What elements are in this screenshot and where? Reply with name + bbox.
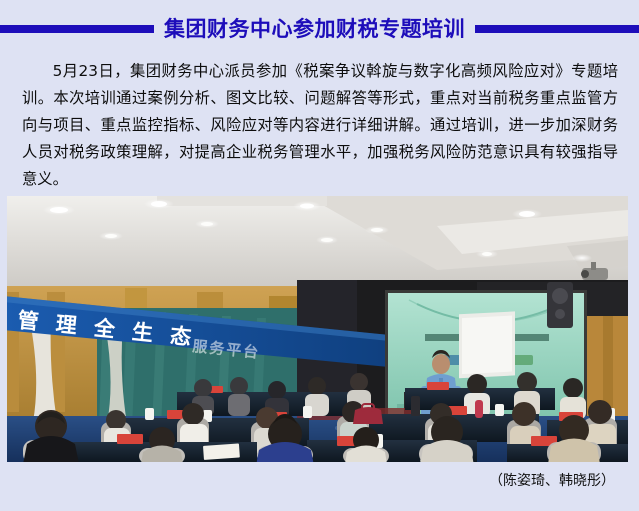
page-title-text: 集团财务中心参加财税专题培训 [164, 19, 465, 40]
article-body: 5月23日，集团财务中心派员参加《税案争议斡旋与数字化高频风险应对》专题培训。本… [22, 58, 618, 193]
article-photo: 管 理 全 生 态 服务平台 [7, 196, 628, 462]
photo-credit: （陈姿琦、韩晓彤） [489, 470, 615, 490]
page-title: 集团财务中心参加财税专题培训 [0, 12, 639, 46]
article-page: 集团财务中心参加财税专题培训 5月23日，集团财务中心派员参加《税案争议斡旋与数… [0, 0, 639, 511]
title-rule-left [0, 25, 154, 33]
title-rule-right [475, 25, 639, 33]
conference-room-illustration: 管 理 全 生 态 服务平台 [7, 196, 628, 462]
